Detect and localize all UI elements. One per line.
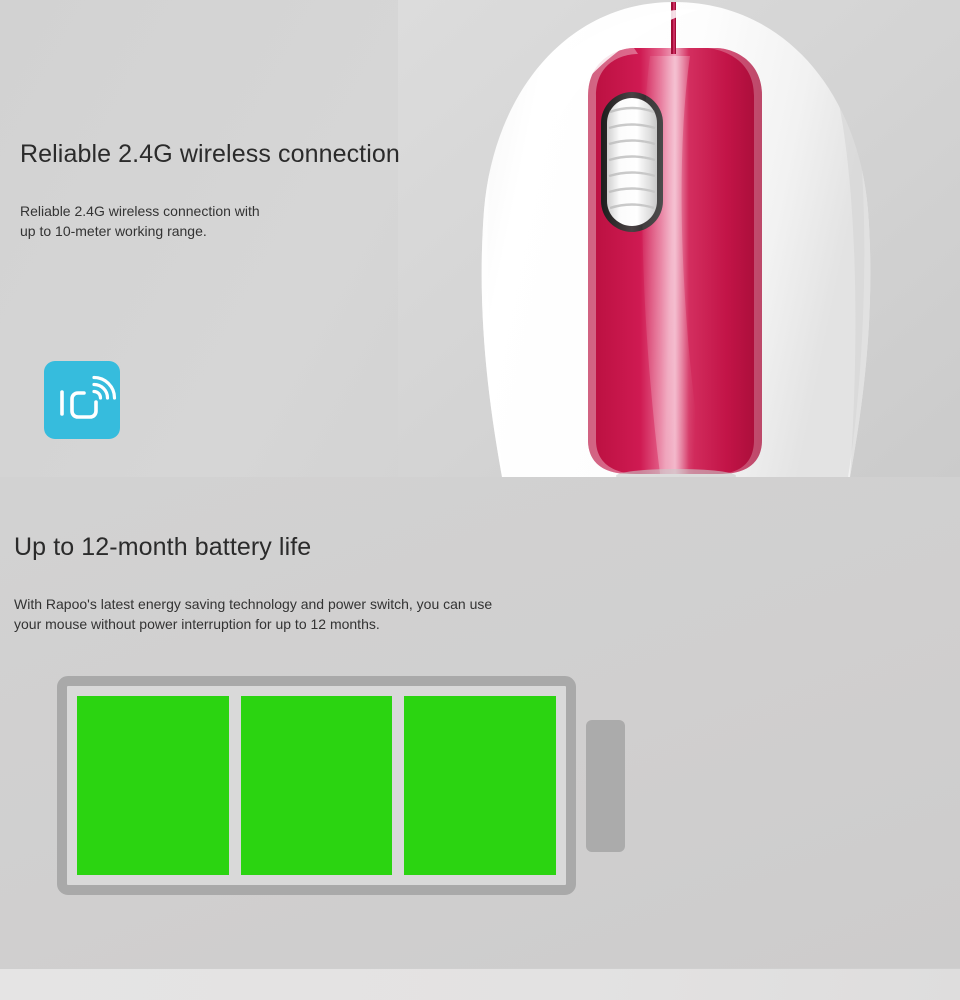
battery-level-indicator: [57, 676, 576, 895]
wireless-heading: Reliable 2.4G wireless connection: [20, 139, 440, 169]
battery-segment: [404, 696, 556, 875]
battery-heading: Up to 12-month battery life: [14, 532, 674, 562]
battery-terminal-nub: [586, 720, 625, 852]
battery-body-line-1: With Rapoo's latest energy saving techno…: [14, 594, 654, 614]
section-wireless-connection: Reliable 2.4G wireless connection Reliab…: [0, 0, 960, 477]
section-battery-life: Up to 12-month battery life With Rapoo's…: [0, 477, 960, 968]
battery-body-block: With Rapoo's latest energy saving techno…: [14, 594, 654, 634]
footer-strip: [0, 968, 960, 1000]
wireless-mouse-signal-icon: [44, 361, 120, 439]
battery-heading-block: Up to 12-month battery life: [14, 532, 674, 562]
wireless-heading-block: Reliable 2.4G wireless connection: [20, 139, 440, 169]
wireless-body-line-1: Reliable 2.4G wireless connection with: [20, 201, 420, 221]
battery-segment: [241, 696, 393, 875]
wireless-body-block: Reliable 2.4G wireless connection with u…: [20, 201, 420, 241]
battery-segments: [77, 696, 556, 875]
battery-body-line-2: your mouse without power interruption fo…: [14, 614, 654, 634]
battery-segment: [77, 696, 229, 875]
product-feature-page: Reliable 2.4G wireless connection Reliab…: [0, 0, 960, 1000]
wireless-mouse-photo: [398, 0, 960, 477]
wireless-body-line-2: up to 10-meter working range.: [20, 221, 420, 241]
